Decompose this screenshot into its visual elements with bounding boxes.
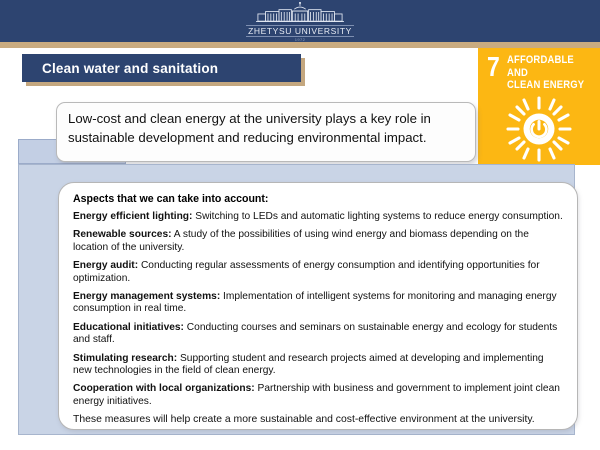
aspect-item: Energy efficient lighting: Switching to … [73, 211, 565, 223]
aspect-term: Energy audit: [73, 260, 138, 271]
aspects-card-content: Aspects that we can take into account: E… [73, 192, 565, 427]
aspect-item: Energy audit: Conducting regular assessm… [73, 260, 565, 285]
aspect-item: Educational initiatives: Conducting cour… [73, 322, 565, 347]
page-title: Clean water and sanitation [22, 61, 218, 76]
aspect-term: Educational initiatives: [73, 322, 184, 333]
aspect-item: Cooperation with local organizations: Pa… [73, 383, 565, 408]
aspect-term: Energy management systems: [73, 291, 220, 302]
university-building-icon [248, 2, 352, 24]
aspects-card: Aspects that we can take into account: E… [58, 182, 578, 430]
university-logo: ZHETYSU UNIVERSITY 1972 [247, 2, 353, 42]
university-name: ZHETYSU UNIVERSITY [246, 25, 354, 37]
sdg-label: AFFORDABLE AND CLEAN ENERGY [507, 54, 587, 92]
summary-callout-text: Low-cost and clean energy at the univers… [68, 110, 466, 147]
aspect-description: Switching to LEDs and automatic lighting… [192, 211, 562, 222]
closing-statement: These measures will help create a more s… [73, 414, 565, 427]
aspect-item: Energy management systems: Implementatio… [73, 291, 565, 316]
aspect-item: Renewable sources: A study of the possib… [73, 229, 565, 254]
aspects-heading: Aspects that we can take into account: [73, 192, 565, 206]
slide-canvas: ZHETYSU UNIVERSITY 1972 Clean water and … [0, 0, 600, 450]
university-year: 1972 [295, 37, 306, 42]
slide-title-bar: Clean water and sanitation [22, 54, 301, 82]
sdg-number: 7 [487, 54, 500, 80]
aspect-item: Stimulating research: Supporting student… [73, 353, 565, 378]
aspect-term: Energy efficient lighting: [73, 211, 192, 222]
aspect-description: Conducting regular assessments of energy… [73, 260, 540, 283]
aspect-term: Stimulating research: [73, 353, 177, 364]
sdg-badge-header: 7 AFFORDABLE AND CLEAN ENERGY [487, 54, 600, 92]
summary-callout: Low-cost and clean energy at the univers… [56, 102, 476, 162]
sun-power-icon [504, 96, 574, 162]
aspects-list: Energy efficient lighting: Switching to … [73, 211, 565, 408]
sdg-7-badge: 7 AFFORDABLE AND CLEAN ENERGY [478, 48, 600, 165]
aspect-term: Renewable sources: [73, 229, 172, 240]
aspect-term: Cooperation with local organizations: [73, 383, 255, 394]
